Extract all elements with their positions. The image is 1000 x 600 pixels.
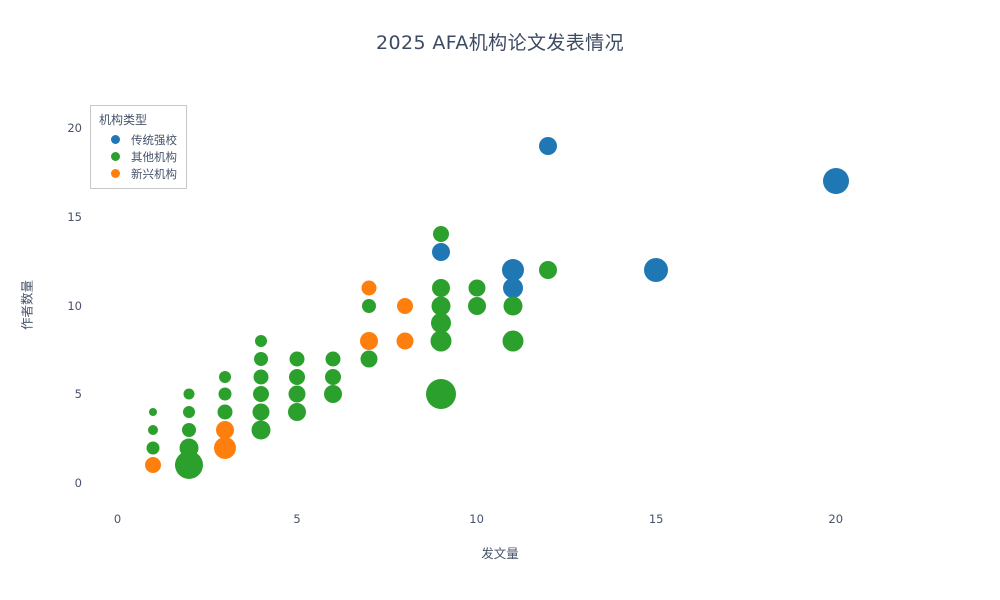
scatter-chart-figure: 2025 AFA机构论文发表情况 05101520 05101520 发文量 作… — [0, 0, 1000, 600]
data-point — [325, 369, 341, 385]
data-point — [175, 451, 203, 479]
data-point — [432, 243, 450, 261]
data-point — [290, 351, 305, 366]
x-tick-label: 15 — [649, 512, 664, 526]
data-point — [539, 261, 557, 279]
legend-rows: 传统强校其他机构新兴机构 — [98, 131, 177, 182]
data-point — [324, 385, 342, 403]
legend-swatch-icon — [111, 152, 120, 161]
data-point — [362, 299, 376, 313]
data-point — [182, 423, 196, 437]
data-point — [539, 137, 557, 155]
data-point — [433, 226, 449, 242]
data-point — [502, 331, 523, 352]
data-point — [255, 335, 267, 347]
data-point — [254, 352, 268, 366]
legend-item-2[interactable]: 新兴机构 — [98, 165, 177, 182]
data-point — [148, 425, 158, 435]
data-point — [426, 379, 456, 409]
legend-swatch-icon — [111, 135, 120, 144]
data-point — [289, 386, 306, 403]
legend: 机构类型 传统强校其他机构新兴机构 — [90, 105, 187, 189]
y-tick-label: 10 — [67, 299, 82, 313]
data-point — [219, 371, 231, 383]
data-point — [396, 333, 413, 350]
data-point — [254, 369, 269, 384]
x-tick-label: 20 — [828, 512, 843, 526]
data-point — [149, 408, 157, 416]
data-point — [361, 280, 376, 295]
data-point — [503, 278, 523, 298]
data-point — [145, 457, 161, 473]
data-point — [397, 298, 413, 314]
data-point — [326, 351, 341, 366]
x-axis-label: 发文量 — [0, 543, 1000, 562]
data-point — [430, 331, 451, 352]
y-axis-label: 作者数量 — [17, 280, 36, 330]
plot-area — [96, 110, 886, 501]
data-point — [253, 386, 269, 402]
data-point — [503, 296, 522, 315]
data-point — [253, 404, 270, 421]
legend-item-0[interactable]: 传统强校 — [98, 131, 177, 148]
legend-item-label: 传统强校 — [131, 132, 177, 148]
page-title: 2025 AFA机构论文发表情况 — [0, 28, 1000, 55]
y-tick-label: 20 — [67, 121, 82, 135]
data-point — [360, 332, 378, 350]
data-point — [823, 168, 849, 194]
data-point — [147, 441, 160, 454]
data-point — [288, 403, 306, 421]
data-point — [252, 420, 271, 439]
y-tick-label: 5 — [75, 387, 82, 401]
data-point — [644, 258, 668, 282]
data-point — [468, 279, 485, 296]
legend-title: 机构类型 — [98, 111, 177, 128]
x-tick-label: 0 — [114, 512, 121, 526]
data-point — [468, 297, 486, 315]
y-tick-label: 0 — [75, 476, 82, 490]
data-point — [218, 405, 233, 420]
data-point — [219, 388, 232, 401]
data-point — [184, 389, 195, 400]
x-tick-label: 10 — [469, 512, 484, 526]
legend-item-label: 新兴机构 — [131, 166, 177, 182]
data-point — [431, 296, 450, 315]
legend-item-label: 其他机构 — [131, 149, 177, 165]
y-tick-label: 15 — [67, 210, 82, 224]
legend-swatch-icon — [111, 169, 120, 178]
data-point — [214, 437, 236, 459]
data-point — [432, 279, 450, 297]
data-point — [289, 369, 305, 385]
legend-item-1[interactable]: 其他机构 — [98, 148, 177, 165]
data-point — [360, 350, 377, 367]
data-point — [183, 406, 195, 418]
x-tick-label: 5 — [293, 512, 300, 526]
